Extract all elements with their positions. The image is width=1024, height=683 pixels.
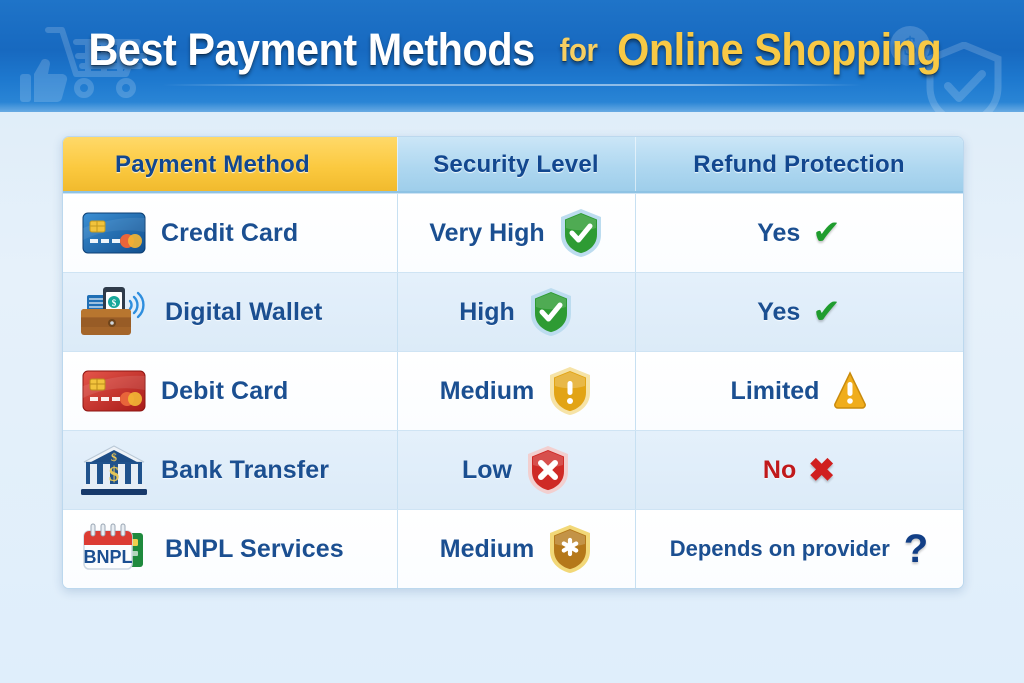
refund-protection-value: Depends on provider [670,536,890,562]
cell-refund-protection: Yes ✔ [635,273,963,351]
infographic-page: $ Best Payment MethodsforOnline Shopping… [0,0,1024,683]
cell-security-level: Medium [397,352,635,430]
warning-triangle-amber-icon [833,371,867,411]
table-row: BNPL BNPL Services Medium Depend [63,509,963,588]
security-level-value: Low [462,456,512,485]
cell-security-level: High [397,273,635,351]
shield-check-green-icon [559,207,603,259]
shield-x-red-icon [526,444,570,496]
credit-card-blue-icon [81,210,147,256]
page-title: Best Payment MethodsforOnline Shopping [0,24,1024,76]
table-row: $ Digital Wallet High [63,272,963,351]
column-header-payment-method: Payment Method [63,137,397,193]
cell-payment-method: Debit Card [63,352,397,430]
cell-refund-protection: Depends on provider ? [635,510,963,588]
bnpl-calendar-icon: BNPL [81,523,151,575]
svg-text:BNPL: BNPL [84,547,133,567]
title-underline-rule [162,84,862,86]
check-mark-green-icon: ✔ [812,216,841,250]
credit-card-red-icon [81,368,147,414]
column-header-refund-protection: Refund Protection [635,137,963,193]
cell-payment-method: $ $ Bank Transfer [63,431,397,509]
header-banner: $ Best Payment MethodsforOnline Shopping [0,0,1024,112]
x-mark-red-icon: ✖ [808,454,835,486]
shield-asterisk-gold-icon [548,523,592,575]
comparison-table: Payment Method Security Level Refund Pro… [62,136,964,589]
title-connector: for [559,32,597,69]
cell-refund-protection: Limited [635,352,963,430]
refund-protection-value: No [763,456,796,485]
refund-protection-value: Yes [757,219,800,248]
svg-text:$: $ [109,462,120,486]
cell-refund-protection: No ✖ [635,431,963,509]
cell-security-level: Low [397,431,635,509]
security-level-value: High [459,298,515,327]
payment-method-label: Debit Card [161,377,288,406]
shield-warning-amber-icon [548,365,592,417]
table-row: Debit Card Medium Limited [63,351,963,430]
title-highlight: Online Shopping [617,24,941,76]
refund-protection-value: Limited [731,377,820,406]
wallet-phone-nfc-icon: $ [81,285,151,339]
cell-payment-method: $ Digital Wallet [63,273,397,351]
security-level-value: Medium [440,535,534,564]
cell-payment-method: Credit Card [63,194,397,272]
security-level-value: Medium [440,377,534,406]
cell-refund-protection: Yes ✔ [635,194,963,272]
table-row: Credit Card Very High Yes ✔ [63,193,963,272]
payment-method-label: Bank Transfer [161,456,329,485]
svg-text:$: $ [112,298,117,308]
table-header-row: Payment Method Security Level Refund Pro… [63,137,963,193]
bank-building-icon: $ $ [81,444,147,496]
payment-method-label: BNPL Services [165,535,344,564]
check-mark-green-icon: ✔ [812,295,841,329]
table-row: $ $ Bank Transfer Low [63,430,963,509]
column-header-security-level: Security Level [397,137,635,193]
cell-security-level: Very High [397,194,635,272]
shield-check-green-icon [529,286,573,338]
security-level-value: Very High [429,219,544,248]
cell-security-level: Medium [397,510,635,588]
title-primary: Best Payment Methods [88,24,534,76]
payment-method-label: Digital Wallet [165,298,322,327]
refund-protection-value: Yes [757,298,800,327]
payment-method-label: Credit Card [161,219,298,248]
cell-payment-method: BNPL BNPL Services [63,510,397,588]
question-mark-blue-icon: ? [904,529,928,569]
